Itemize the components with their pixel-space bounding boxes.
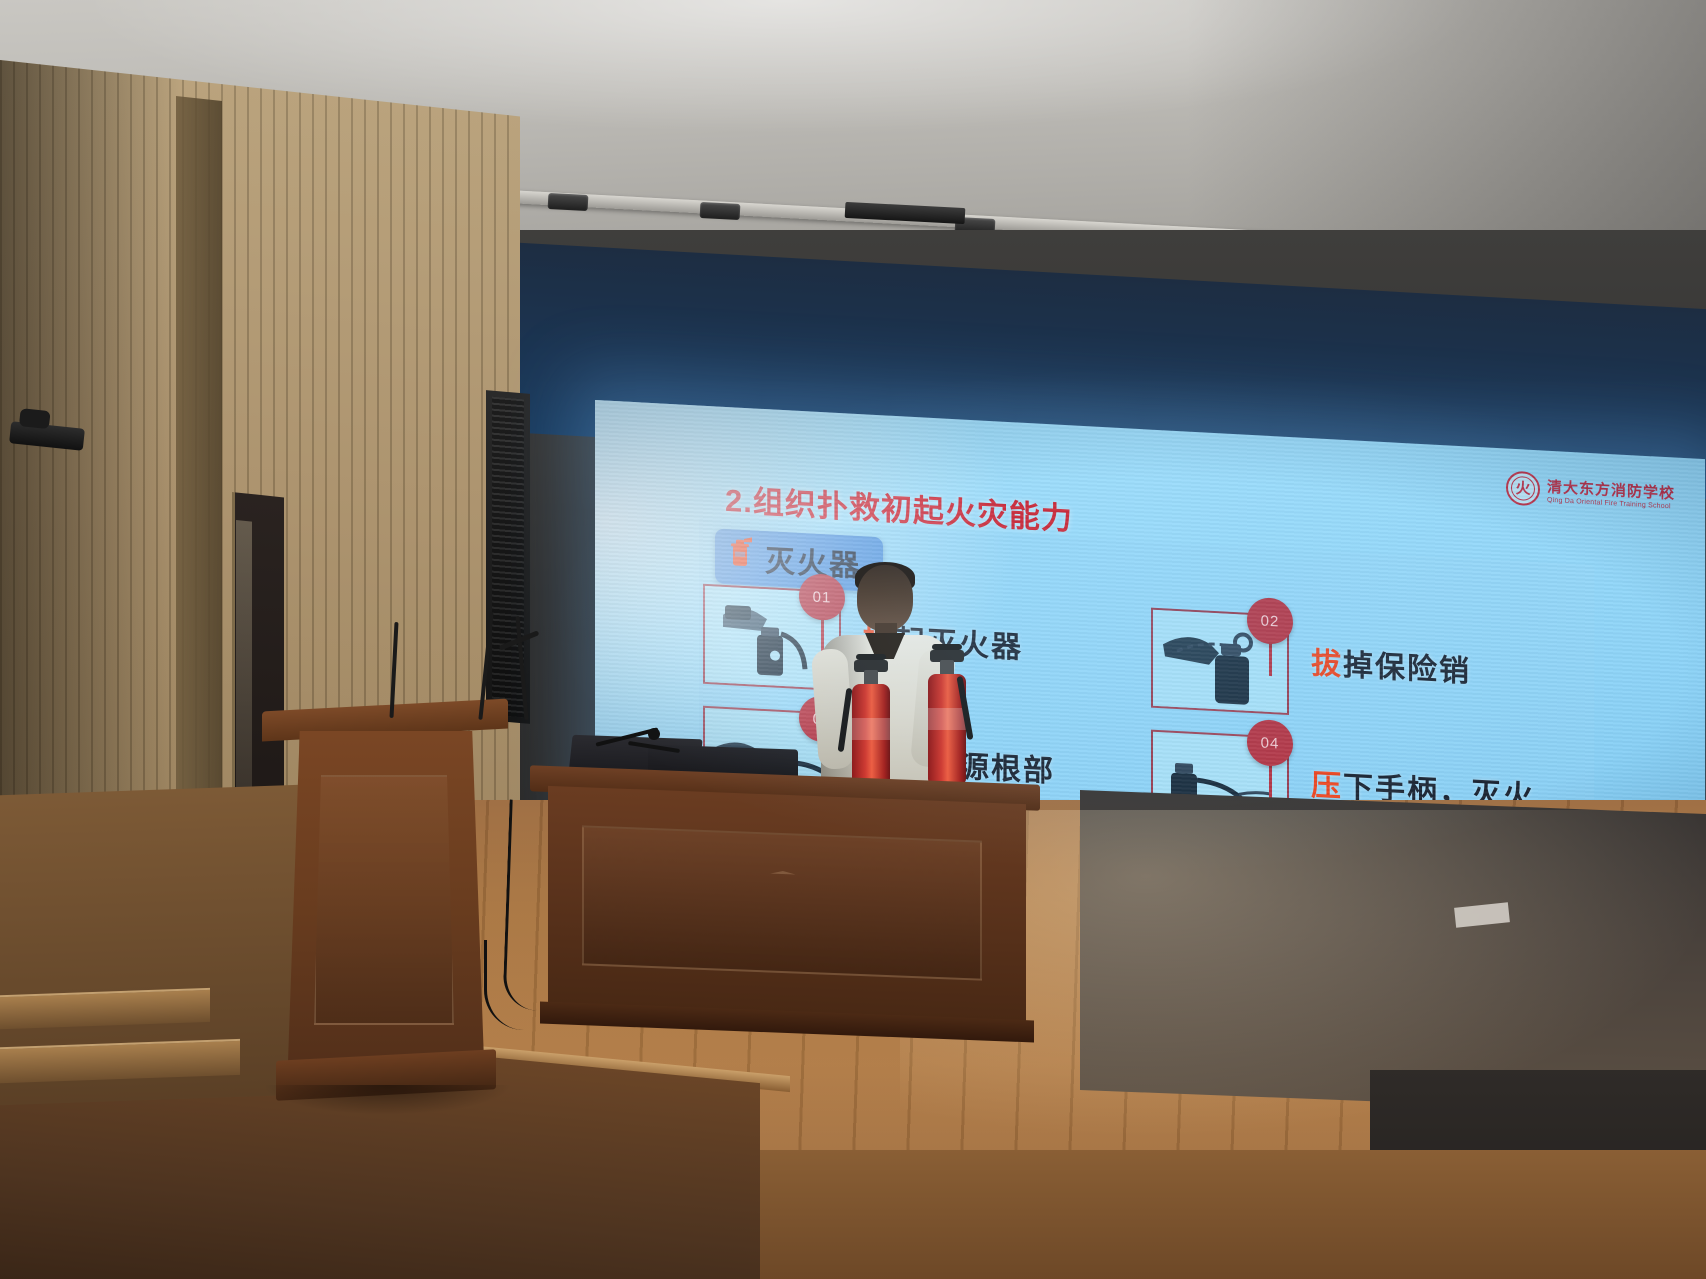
fire-extinguisher-icon [727, 535, 753, 568]
podium-shadow [262, 1085, 512, 1115]
ceiling-spotlight-3 [700, 202, 741, 220]
stair-tread-2 [0, 1039, 240, 1083]
extinguisher-label [928, 708, 966, 730]
step-action-02: 拔 [1311, 647, 1343, 682]
ceiling-spotlight-2 [548, 193, 589, 211]
stair-tread-1 [0, 988, 210, 1029]
badge-stem [1269, 642, 1272, 676]
auditorium-scene: 火 清大东方消防学校 Qing Da Oriental Fire Trainin… [0, 0, 1706, 1279]
step-text-02: 拔掉保险销 [1311, 638, 1471, 691]
extinguisher-handle [856, 654, 886, 660]
extinguisher-label [852, 718, 890, 740]
desk-microphone-head [648, 728, 660, 740]
flame-seal-icon: 火 [1506, 471, 1540, 507]
logo-mark-glyph: 火 [1508, 473, 1538, 505]
step-card-02: 02 拔掉保险销 [1151, 600, 1581, 743]
presentation-desk [530, 775, 1040, 1055]
podium [262, 705, 508, 1120]
desk-inlay-panel [582, 825, 982, 980]
stage-stairs[interactable] [0, 785, 300, 1105]
badge-stem [1269, 764, 1272, 798]
podium-inlay-panel [314, 775, 454, 1025]
school-logo: 火 清大东方消防学校 Qing Da Oriental Fire Trainin… [1506, 471, 1675, 514]
presenter-head [857, 565, 913, 631]
step-rest-02: 掉保险销 [1343, 649, 1471, 689]
extinguisher-handle [932, 644, 962, 650]
